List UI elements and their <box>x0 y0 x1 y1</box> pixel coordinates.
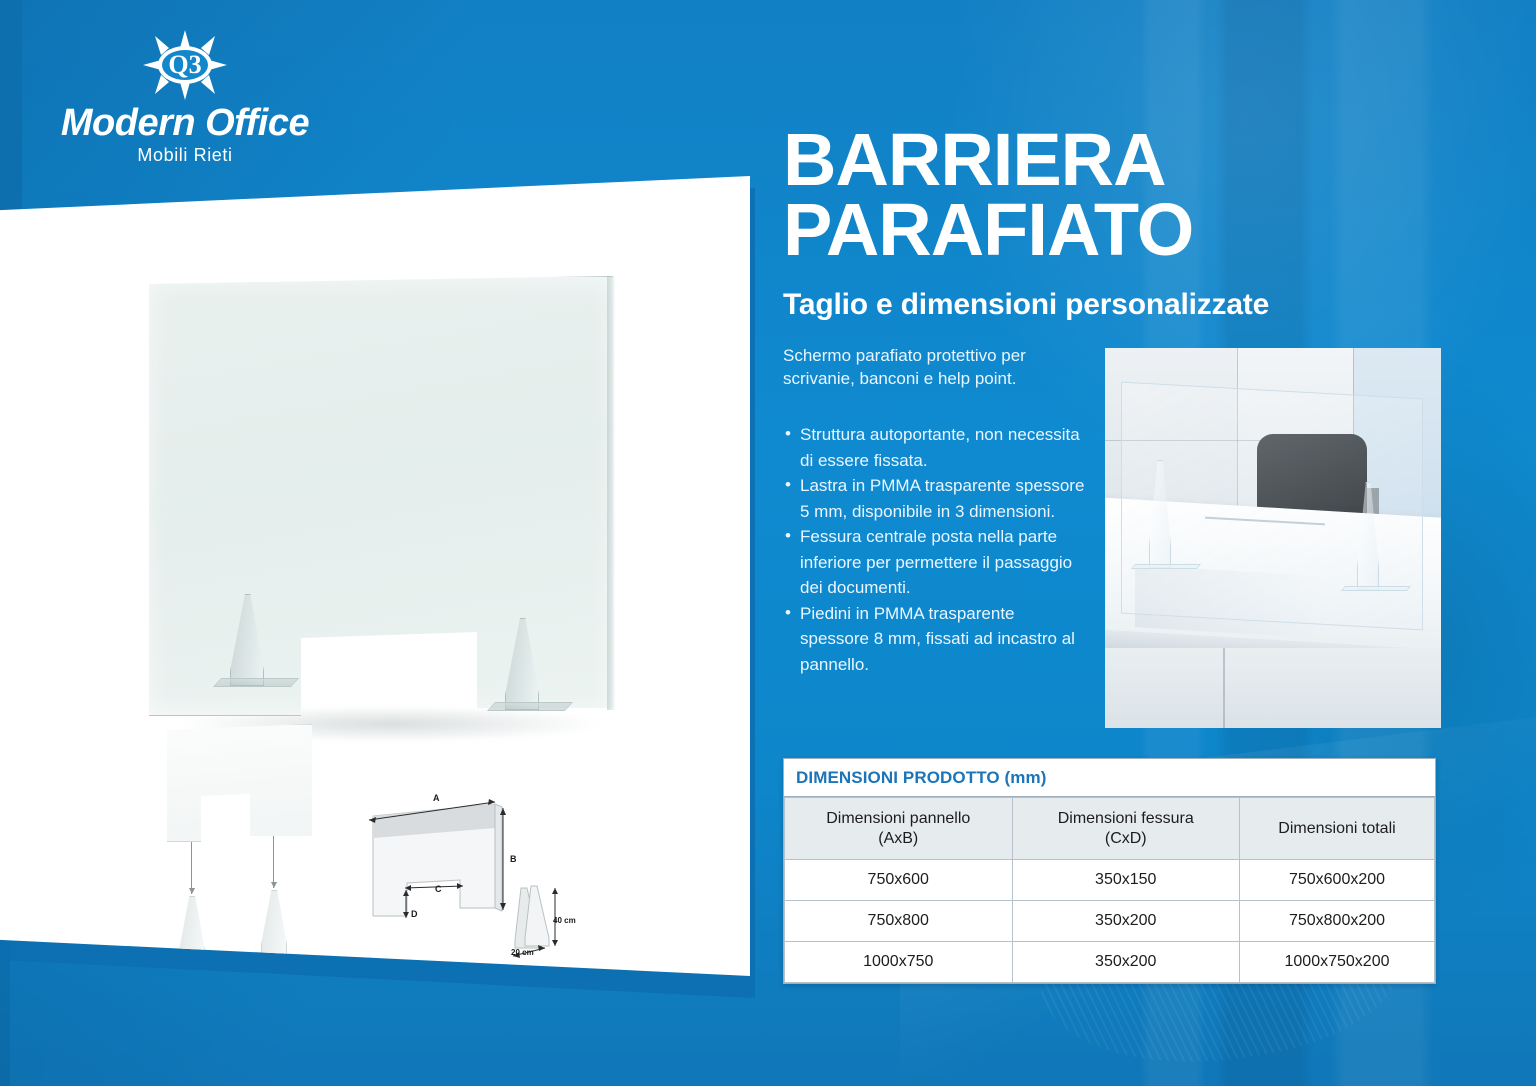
content-column: BARRIERA PARAFIATO Taglio e dimensioni p… <box>783 0 1483 1086</box>
cell-total-size: 1000x750x200 <box>1240 942 1435 983</box>
dimension-label-depth: 20 cm <box>511 948 534 957</box>
table-row: 1000x750 350x200 1000x750x200 <box>785 942 1435 983</box>
dimension-label-b: B <box>510 854 517 864</box>
table-header-row: Dimensioni pannello (AxB) Dimensioni fes… <box>785 798 1435 860</box>
cell-slot-size: 350x200 <box>1012 942 1240 983</box>
cell-total-size: 750x600x200 <box>1240 860 1435 901</box>
dimensions-table: DIMENSIONI PRODOTTO (mm) Dimensioni pann… <box>783 758 1436 984</box>
sunburst-q3-icon: Q3 <box>139 28 231 102</box>
title-line-2: PARAFIATO <box>783 195 1463 265</box>
brand-logo: Q3 Modern Office Mobili Rieti <box>50 28 320 168</box>
assembly-arrow-icon <box>191 842 192 894</box>
dimension-label-c: C <box>435 884 442 894</box>
acrylic-panel-shape <box>145 276 615 716</box>
cell-total-size: 750x800x200 <box>1240 901 1435 942</box>
column-header-panel: Dimensioni pannello (AxB) <box>785 798 1013 860</box>
list-item: Struttura autoportante, non necessita di… <box>783 422 1088 473</box>
dimension-label-d: D <box>411 909 418 919</box>
dimension-label-height: 40 cm <box>553 916 576 925</box>
list-item: Piedini in PMMA trasparente spessore 8 m… <box>783 601 1088 678</box>
page-title: BARRIERA PARAFIATO <box>783 125 1463 264</box>
list-item: Lastra in PMMA trasparente spessore 5 mm… <box>783 473 1088 524</box>
intro-text: Schermo parafiato protettivo per scrivan… <box>783 345 1083 390</box>
dimension-label-a: A <box>433 793 440 803</box>
column-header-slot: Dimensioni fessura (CxD) <box>1012 798 1240 860</box>
table-row: 750x800 350x200 750x800x200 <box>785 901 1435 942</box>
cell-panel-size: 1000x750 <box>785 942 1013 983</box>
column-header-total: Dimensioni totali <box>1240 798 1435 860</box>
flyer-page: Q3 Modern Office Mobili Rieti <box>0 0 1536 1086</box>
svg-text:Q3: Q3 <box>168 50 201 79</box>
brand-tagline: Mobili Rieti <box>50 145 320 166</box>
feature-list: Struttura autoportante, non necessita di… <box>783 422 1088 677</box>
technical-drawing: A B C D 40 cm 20 cm <box>355 788 585 968</box>
list-item: Fessura centrale posta nella parte infer… <box>783 524 1088 601</box>
cell-slot-size: 350x200 <box>1012 901 1240 942</box>
cell-panel-size: 750x600 <box>785 860 1013 901</box>
assembly-arrow-icon <box>273 836 274 888</box>
product-image-panel: A B C D 40 cm 20 cm <box>0 176 752 984</box>
product-render-main <box>145 276 650 741</box>
title-line-1: BARRIERA <box>783 125 1463 195</box>
cell-panel-size: 750x800 <box>785 901 1013 942</box>
cell-slot-size: 350x150 <box>1012 860 1240 901</box>
page-subtitle: Taglio e dimensioni personalizzate <box>783 288 1463 322</box>
table-caption: DIMENSIONI PRODOTTO (mm) <box>784 759 1435 797</box>
product-photo <box>1105 348 1441 728</box>
product-render-exploded <box>145 724 335 954</box>
brand-name: Modern Office <box>50 104 320 142</box>
table-row: 750x600 350x150 750x600x200 <box>785 860 1435 901</box>
